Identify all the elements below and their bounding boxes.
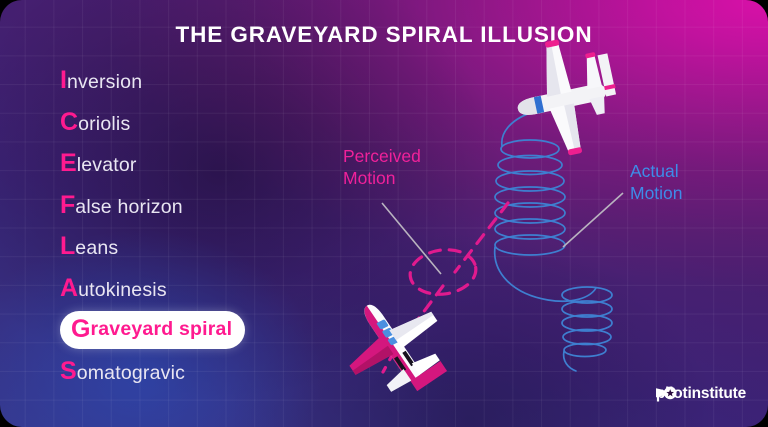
illustration-card: THE GRAVEYARD SPIRAL ILLUSION Inversion … [0,0,768,427]
actual-leader-line [563,193,623,247]
list-item-label: omatogravic [77,362,185,384]
pilot-institute-wing-icon [656,385,678,401]
list-item-initial: E [60,149,77,177]
list-item-coriolis[interactable]: Coriolis [60,102,310,144]
list-item-initial: S [60,357,77,385]
list-item-false-horizon[interactable]: False horizon [60,185,310,227]
list-item-initial: F [60,191,75,219]
list-item-label: raveyard spiral [90,318,232,341]
list-item-initial: L [60,232,75,260]
perceived-leader-line [382,203,441,274]
airplane-diving-icon [327,278,464,415]
mnemonic-list: Inversion Coriolis Elevator False horizo… [60,60,310,392]
perceived-motion-label: Perceived Motion [343,146,421,190]
list-item-leans[interactable]: Leans [60,226,310,268]
list-item-inversion[interactable]: Inversion [60,60,310,102]
list-item-label: nversion [67,71,142,93]
list-item-label: oriolis [78,113,130,135]
actual-motion-line1: Actual [630,161,683,183]
perceived-motion-line2: Motion [343,168,421,190]
list-item-initial: G [71,315,90,344]
list-item-somatogravic[interactable]: Somatogravic [60,351,310,393]
actual-motion-line2: Motion [630,183,683,205]
list-item-autokinesis[interactable]: Autokinesis [60,268,310,310]
page-title: THE GRAVEYARD SPIRAL ILLUSION [0,22,768,48]
perceived-motion-line1: Perceived [343,146,421,168]
list-item-label: eans [75,237,118,259]
list-item-label: utokinesis [78,279,167,301]
list-item-initial: I [60,66,67,94]
list-item-label: levator [77,154,137,176]
airplane-level-icon [505,30,627,164]
actual-motion-label: Actual Motion [630,161,683,205]
actual-motion-path [495,111,612,371]
list-item-initial: C [60,108,78,136]
perceived-motion-loop [407,246,478,299]
list-item-graveyard-spiral[interactable]: Graveyard spiral [60,309,310,351]
perceived-motion-path [383,203,508,372]
brand-logo[interactable]: pilotinstitute [656,385,746,403]
highlight-pill[interactable]: Graveyard spiral [60,311,245,349]
list-item-elevator[interactable]: Elevator [60,143,310,185]
list-item-initial: A [60,274,78,302]
list-item-label: alse horizon [75,196,183,218]
